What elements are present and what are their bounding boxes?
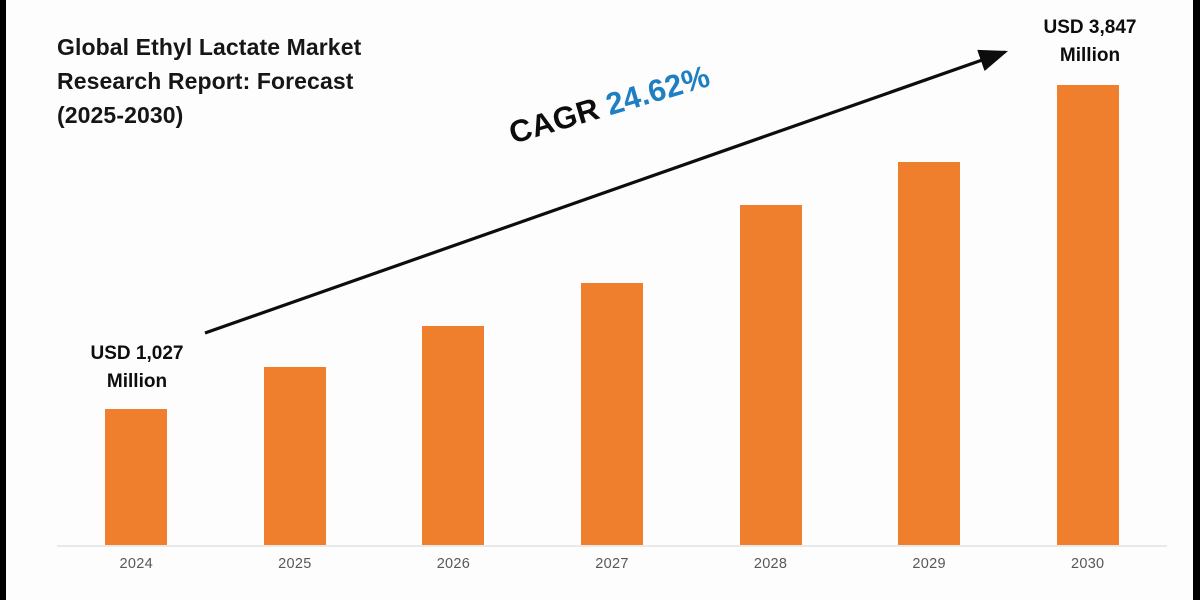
start-value-line-1: USD 1,027 — [62, 340, 212, 368]
start-value-callout: USD 1,027 Million — [62, 340, 212, 395]
x-tick-2024: 2024 — [76, 556, 196, 572]
x-tick-2027: 2027 — [552, 556, 672, 572]
bar-2025 — [264, 367, 326, 545]
bar-2030 — [1057, 85, 1119, 545]
x-tick-2028: 2028 — [711, 556, 831, 572]
x-tick-2030: 2030 — [1028, 556, 1148, 572]
bar-2028 — [740, 205, 802, 545]
end-value-callout: USD 3,847 Million — [1000, 14, 1180, 69]
x-tick-2025: 2025 — [235, 556, 355, 572]
chart-canvas: Global Ethyl Lactate Market Research Rep… — [0, 0, 1200, 600]
bar-2026 — [422, 326, 484, 545]
x-axis-line — [57, 545, 1167, 547]
end-value-line-1: USD 3,847 — [1000, 14, 1180, 42]
bar-2029 — [898, 162, 960, 545]
bar-2024 — [105, 409, 167, 545]
x-tick-2026: 2026 — [393, 556, 513, 572]
end-value-line-2: Million — [1000, 42, 1180, 70]
x-tick-2029: 2029 — [869, 556, 989, 572]
bar-2027 — [581, 283, 643, 545]
start-value-line-2: Million — [62, 368, 212, 396]
